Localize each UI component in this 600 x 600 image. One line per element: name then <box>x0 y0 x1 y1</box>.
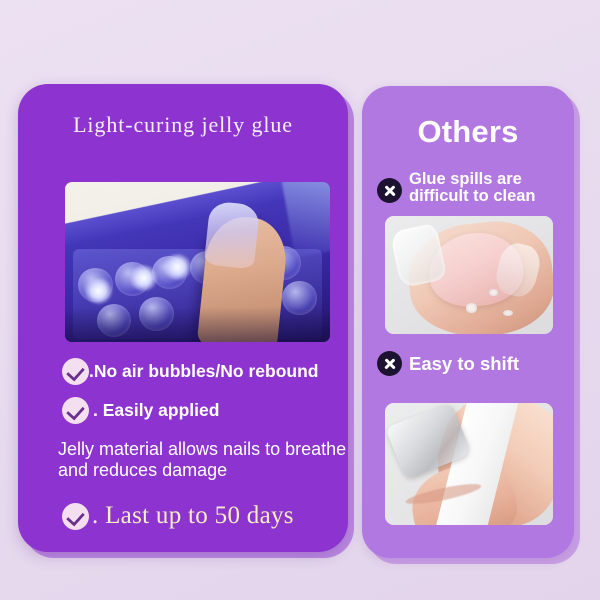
feature-note-text: Jelly material allows nails to breathe a… <box>58 439 348 481</box>
nail-shifting-photo <box>385 403 553 525</box>
main-product-card: Light-curing jelly glue <box>18 84 348 552</box>
uv-lamp-jelly-glue-photo <box>65 182 330 342</box>
check-icon <box>62 397 89 424</box>
infographic-root: Others Glue spills are difficult to clea… <box>0 0 600 600</box>
drawback-row-2: Easy to shift <box>377 351 567 376</box>
drawback-label-1: Glue spills are difficult to clean <box>409 171 567 205</box>
drawback-label-2: Easy to shift <box>409 354 519 373</box>
feature-label-2: . Easily applied <box>89 400 219 421</box>
feature-row-2: . Easily applied <box>62 397 219 424</box>
others-card-title: Others <box>362 114 574 150</box>
x-icon <box>377 178 402 203</box>
feature-row-1: .No air bubbles/No rebound <box>62 358 318 385</box>
check-icon <box>62 358 89 385</box>
drawback-row-1: Glue spills are difficult to clean <box>377 171 567 205</box>
main-card-title: Light-curing jelly glue <box>18 112 348 138</box>
feature-label-1: .No air bubbles/No rebound <box>89 361 318 382</box>
x-icon <box>377 351 402 376</box>
feature-label-3: . Last up to 50 days <box>89 502 294 530</box>
others-card: Others Glue spills are difficult to clea… <box>362 86 574 558</box>
feature-row-3: . Last up to 50 days <box>62 502 294 530</box>
check-icon <box>62 503 89 530</box>
glue-spill-fingertip-photo <box>385 216 553 334</box>
